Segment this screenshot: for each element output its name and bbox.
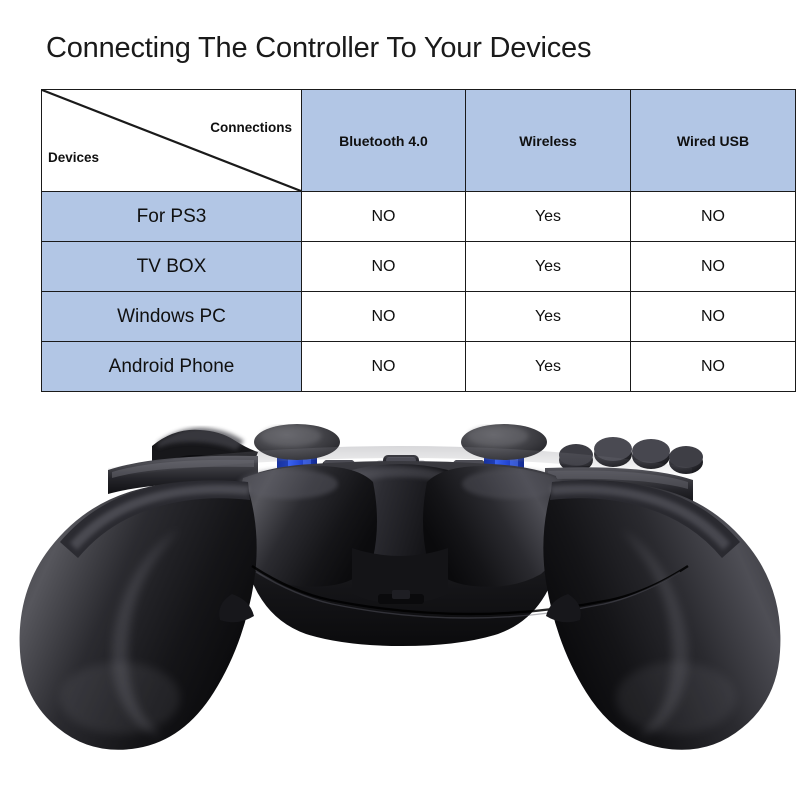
table-header-row: Connections Devices Bluetooth 4.0 Wirele… — [42, 90, 796, 192]
column-header-bluetooth: Bluetooth 4.0 — [302, 90, 466, 192]
gamepad-illustration — [0, 398, 800, 800]
diagonal-divider-icon — [42, 90, 301, 191]
cell-tv-box-wired-usb: NO — [631, 242, 796, 292]
corner-rows-label: Devices — [48, 150, 99, 165]
cell-windows-pc-bluetooth: NO — [302, 292, 466, 342]
cell-ps3-wired-usb: NO — [631, 192, 796, 242]
cell-ps3-wireless: Yes — [466, 192, 631, 242]
controller-product-image — [0, 398, 800, 800]
cell-android-phone-wired-usb: NO — [631, 342, 796, 392]
corner-header-cell: Connections Devices — [42, 90, 302, 192]
compatibility-table: Connections Devices Bluetooth 4.0 Wirele… — [41, 89, 796, 392]
cell-android-phone-wireless: Yes — [466, 342, 631, 392]
table-row: Windows PC NO Yes NO — [42, 292, 796, 342]
cell-windows-pc-wired-usb: NO — [631, 292, 796, 342]
cell-windows-pc-wireless: Yes — [466, 292, 631, 342]
device-label-android-phone: Android Phone — [42, 342, 302, 392]
device-label-ps3: For PS3 — [42, 192, 302, 242]
table-row: Android Phone NO Yes NO — [42, 342, 796, 392]
cell-tv-box-wireless: Yes — [466, 242, 631, 292]
device-label-tv-box: TV BOX — [42, 242, 302, 292]
corner-columns-label: Connections — [210, 120, 292, 135]
cell-tv-box-bluetooth: NO — [302, 242, 466, 292]
cell-ps3-bluetooth: NO — [302, 192, 466, 242]
column-header-wireless: Wireless — [466, 90, 631, 192]
cell-android-phone-bluetooth: NO — [302, 342, 466, 392]
column-header-wired-usb: Wired USB — [631, 90, 796, 192]
page-title: Connecting The Controller To Your Device… — [46, 32, 591, 65]
device-label-windows-pc: Windows PC — [42, 292, 302, 342]
table-row: TV BOX NO Yes NO — [42, 242, 796, 292]
table-row: For PS3 NO Yes NO — [42, 192, 796, 242]
